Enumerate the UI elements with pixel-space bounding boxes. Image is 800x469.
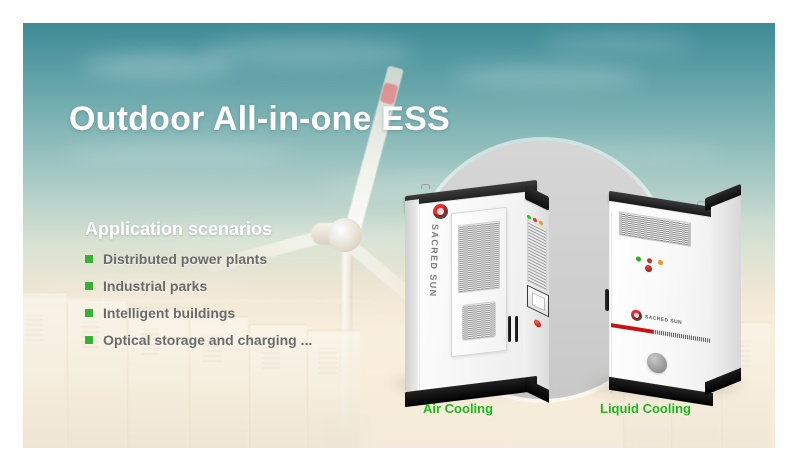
door-handle[interactable] xyxy=(515,316,518,342)
door-handle[interactable] xyxy=(508,316,511,342)
panel-seam xyxy=(419,202,420,390)
list-item: Industrial parks xyxy=(85,272,312,299)
side-vent-grille-icon xyxy=(527,219,547,291)
air-conditioner-unit xyxy=(451,207,507,357)
list-item-label: Intelligent buildings xyxy=(103,305,235,321)
product-air-cooling-cabinet: SACRED SUN xyxy=(405,188,553,403)
emergency-stop-button[interactable] xyxy=(645,264,652,272)
product-caption-liquid-cooling: Liquid Cooling xyxy=(600,401,691,416)
product-caption-air-cooling: Air Cooling xyxy=(423,401,493,416)
vent-grille-icon xyxy=(458,221,500,294)
bullet-square-icon xyxy=(85,336,93,344)
list-item: Intelligent buildings xyxy=(85,299,312,326)
led-fault-icon xyxy=(658,260,663,266)
bullet-square-icon xyxy=(85,309,93,317)
cabinet-right-panel xyxy=(711,195,741,393)
panel-seam xyxy=(611,211,612,393)
door-handle[interactable] xyxy=(605,289,609,312)
list-item-label: Optical storage and charging ... xyxy=(103,332,312,348)
sacred-sun-logo-icon xyxy=(631,309,642,322)
led-run-icon xyxy=(636,256,641,262)
application-scenarios-list: Distributed power plants Industrial park… xyxy=(85,245,312,353)
sacred-sun-logo-icon xyxy=(433,204,448,219)
fan-grille-icon xyxy=(462,301,496,341)
page-title: Outdoor All-in-one ESS xyxy=(69,100,450,139)
lifting-hook-icon xyxy=(421,184,430,189)
bullet-square-icon xyxy=(85,255,93,263)
page-frame: Outdoor All-in-one ESS Application scena… xyxy=(0,0,800,469)
product-liquid-cooling-cabinet: SACRED SUN xyxy=(601,185,743,405)
section-subtitle: Application scenarios xyxy=(85,219,272,240)
hero-banner: Outdoor All-in-one ESS Application scena… xyxy=(23,23,775,448)
led-alarm-icon xyxy=(647,258,652,264)
list-item-label: Distributed power plants xyxy=(103,251,267,267)
list-item: Optical storage and charging ... xyxy=(85,326,312,353)
list-item-label: Industrial parks xyxy=(103,278,207,294)
list-item: Distributed power plants xyxy=(85,245,312,272)
bullet-square-icon xyxy=(85,282,93,290)
